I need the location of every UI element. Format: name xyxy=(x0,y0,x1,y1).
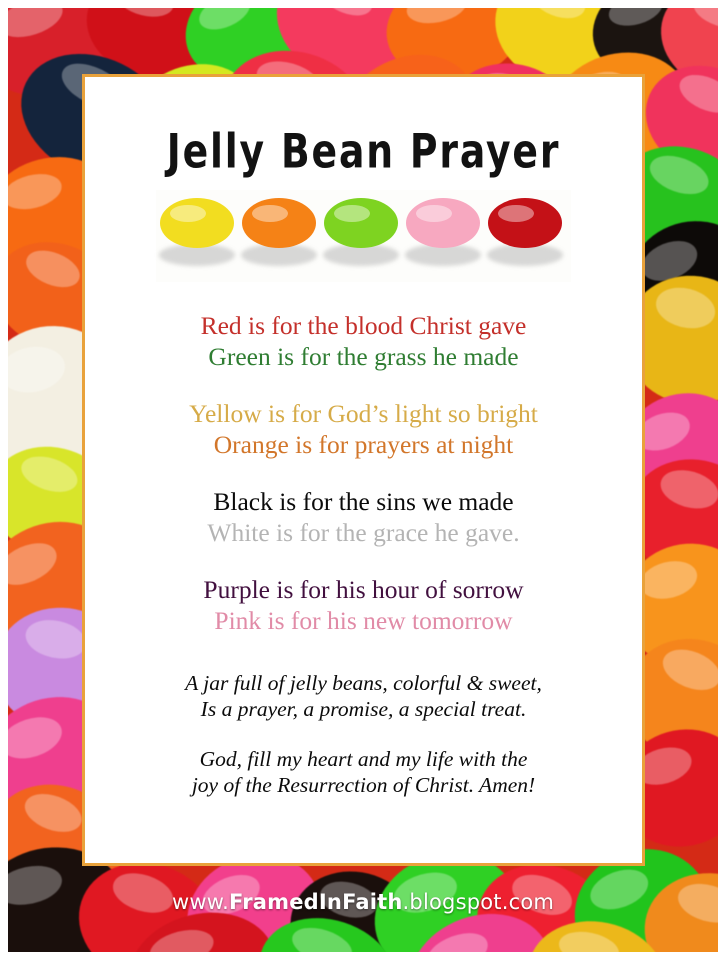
verse-couplet: Red is for the blood Christ gaveGreen is… xyxy=(85,310,642,372)
watermark-url: www.FramedInFaith.blogspot.com xyxy=(0,890,726,914)
prayer-card: Jelly Bean Prayer Red is for the blood C… xyxy=(82,74,645,866)
verse-list: Red is for the blood Christ gaveGreen is… xyxy=(85,310,642,636)
verse-line: Yellow is for God’s light so bright xyxy=(85,398,642,429)
verse-line: Green is for the grass he made xyxy=(85,341,642,372)
jelly-bean-green xyxy=(324,198,398,248)
verse-couplet: Yellow is for God’s light so brightOrang… xyxy=(85,398,642,460)
prayer-card-content: Jelly Bean Prayer Red is for the blood C… xyxy=(85,77,642,863)
closing-stanza-1-line-2: Is a prayer, a promise, a special treat. xyxy=(85,696,642,722)
jelly-bean-photo-strip xyxy=(156,190,571,282)
verse-line: Red is for the blood Christ gave xyxy=(85,310,642,341)
verse-line: White is for the grace he gave. xyxy=(85,517,642,548)
closing-stanza-1-line-1: A jar full of jelly beans, colorful & sw… xyxy=(85,670,642,696)
verse-line: Black is for the sins we made xyxy=(85,486,642,517)
jelly-bean-pink xyxy=(406,198,480,248)
verse-line: Pink is for his new tomorrow xyxy=(85,605,642,636)
closing-stanza-1: A jar full of jelly beans, colorful & sw… xyxy=(85,670,642,722)
verse-line: Orange is for prayers at night xyxy=(85,429,642,460)
jelly-bean-orange xyxy=(242,198,316,248)
closing-stanza-2-line-1: God, fill my heart and my life with the xyxy=(85,746,642,772)
watermark-suffix: .blogspot.com xyxy=(403,890,555,914)
closing-stanza-2: God, fill my heart and my life with the … xyxy=(85,746,642,798)
verse-line: Purple is for his hour of sorrow xyxy=(85,574,642,605)
closing-stanza-2-line-2: joy of the Resurrection of Christ. Amen! xyxy=(85,772,642,798)
page-title: Jelly Bean Prayer xyxy=(107,77,619,176)
watermark-site-name: FramedInFaith xyxy=(229,890,403,914)
jelly-bean-red xyxy=(488,198,562,248)
jelly-bean-prayer-poster: Jelly Bean Prayer Red is for the blood C… xyxy=(0,0,726,960)
watermark-prefix: www. xyxy=(172,890,229,914)
jelly-bean-yellow xyxy=(160,198,234,248)
verse-couplet: Purple is for his hour of sorrowPink is … xyxy=(85,574,642,636)
verse-couplet: Black is for the sins we madeWhite is fo… xyxy=(85,486,642,548)
